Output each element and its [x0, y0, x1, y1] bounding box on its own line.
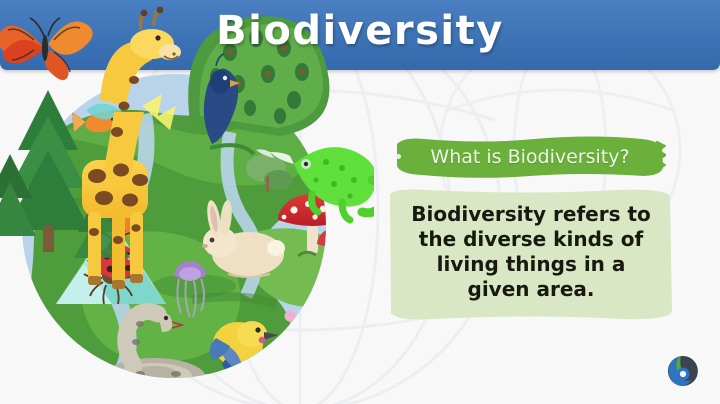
definition-line: Biodiversity refers to	[398, 202, 664, 227]
definition-box: Biodiversity refers to the diverse kinds…	[388, 188, 674, 322]
question-banner: What is Biodiversity?	[394, 136, 666, 178]
brand-swirl-logo[interactable]	[666, 354, 700, 388]
slide-root: Biodiversity	[0, 0, 720, 404]
definition-line: given area.	[398, 277, 664, 302]
page-title: Biodiversity	[0, 8, 720, 54]
definition-line: the diverse kinds of	[398, 227, 664, 252]
illustration-biodiversity	[0, 4, 374, 404]
question-label: What is Biodiversity?	[394, 136, 666, 178]
definition-text: Biodiversity refers to the diverse kinds…	[398, 202, 664, 302]
definition-line: living things in a	[398, 252, 664, 277]
question-bullet-icon	[396, 154, 401, 159]
